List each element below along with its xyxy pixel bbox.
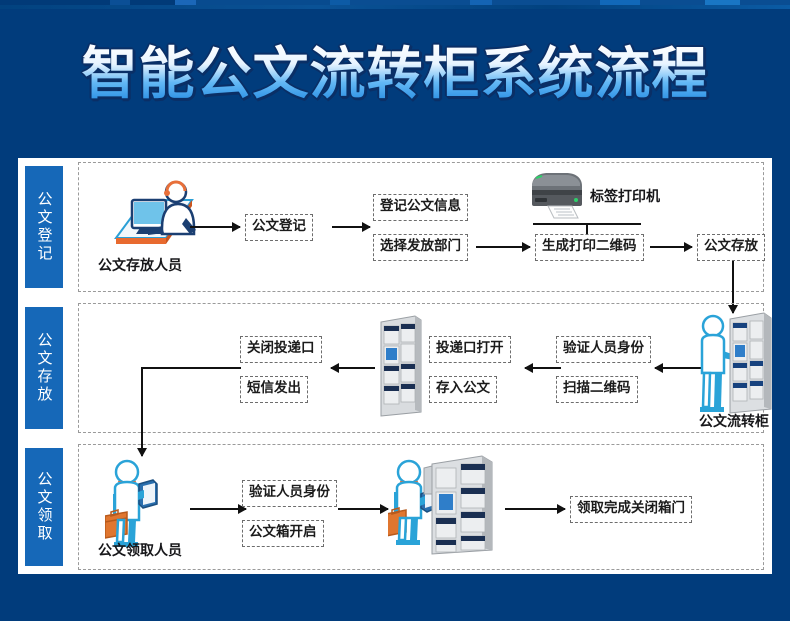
stage-tab-pickup: 公文领取 xyxy=(25,448,63,566)
arrow-row2-to-row3-head xyxy=(141,428,143,456)
stage-row-storage: 公文存放 关闭投递口 短信发出 xyxy=(18,299,772,437)
label-printer-icon xyxy=(526,168,588,220)
device-caption-printer: 标签打印机 xyxy=(590,186,660,206)
step-register[interactable]: 公文登记 xyxy=(245,214,313,241)
arrow-open-to-cabinet xyxy=(338,508,388,510)
arrow-dept-to-print xyxy=(476,246,530,248)
step-choose-dept[interactable]: 选择发放部门 xyxy=(373,234,468,261)
person-receiver-icon xyxy=(105,458,175,550)
step-scan-qr[interactable]: 扫描二维码 xyxy=(556,376,638,403)
arrow-person-to-register xyxy=(190,226,240,228)
figure-caption-registrar: 公文存放人员 xyxy=(98,255,182,275)
step-sms-sent[interactable]: 短信发出 xyxy=(240,376,308,403)
step-verify-id[interactable]: 验证人员身份 xyxy=(556,336,651,363)
stage-row-pickup: 公文领取 xyxy=(18,440,772,574)
step-slot-open[interactable]: 投递口打开 xyxy=(429,336,511,363)
step-close-slot[interactable]: 关闭投递口 xyxy=(240,336,322,363)
step-store-doc[interactable]: 公文存放 xyxy=(697,234,765,261)
stage-row-registration: 公文登记 公文存放人员 公文登记 登记公文信息 选择发 xyxy=(18,158,772,296)
top-decorative-stripe xyxy=(0,0,790,9)
page-title: 智能公文流转柜系统流程 xyxy=(0,44,790,106)
figure-caption-receiver: 公文领取人员 xyxy=(98,540,182,560)
step-register-info[interactable]: 登记公文信息 xyxy=(373,194,468,221)
arrow-receiver-to-verify xyxy=(190,508,246,510)
line-close-slot-left xyxy=(141,367,241,369)
arrow-cabinet-to-close xyxy=(331,367,375,369)
stage-tab-registration: 公文登记 xyxy=(25,166,63,288)
person-at-computer-icon xyxy=(100,178,210,258)
arrow-register-to-info xyxy=(332,226,370,228)
arrow-print-to-store xyxy=(650,246,692,248)
figure-caption-cabinet: 公文流转柜 xyxy=(699,411,769,431)
step-verify-id-2[interactable]: 验证人员身份 xyxy=(242,480,337,507)
step-deposit-doc[interactable]: 存入公文 xyxy=(429,376,497,403)
stage-tab-storage: 公文存放 xyxy=(25,307,63,429)
person-at-cabinet-icon xyxy=(694,311,774,415)
step-print-qr[interactable]: 生成打印二维码 xyxy=(535,234,644,261)
arrow-cabinet-to-done xyxy=(505,508,565,510)
flow-diagram-panel: 公文登记 公文存放人员 公文登记 登记公文信息 选择发 xyxy=(18,158,772,574)
step-pickup-done[interactable]: 领取完成关闭箱门 xyxy=(570,496,692,523)
arrow-verify-to-slot xyxy=(525,367,561,369)
step-box-open[interactable]: 公文箱开启 xyxy=(242,520,324,547)
document-cabinet-icon xyxy=(375,312,423,420)
person-opening-cabinet-icon xyxy=(388,454,498,558)
